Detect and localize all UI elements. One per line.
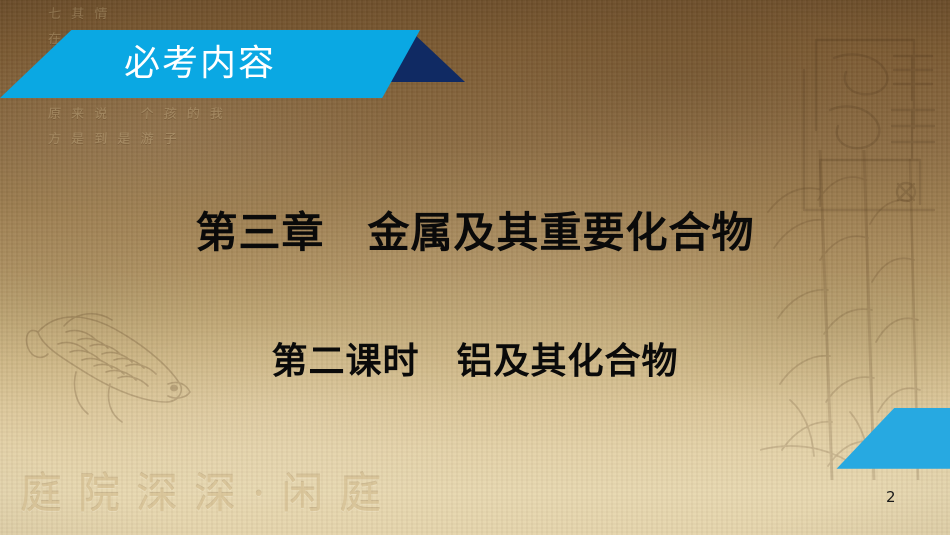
ribbon-banner-shape: 必考内容 <box>0 30 420 98</box>
page-number: 2 <box>886 490 896 505</box>
handwriting-line: 方 是 到 是 游 子 <box>47 127 259 152</box>
corner-ribbon-shape <box>795 408 950 506</box>
seal-script-caption: 庭院深深·闲庭 <box>20 460 397 521</box>
ribbon-label: 必考内容 <box>124 46 276 82</box>
lesson-title: 第二课时 铝及其化合物 <box>0 340 950 383</box>
seal-caption-text: 庭院深深·闲庭 <box>20 460 397 521</box>
chapter-title: 第三章 金属及其重要化合物 <box>0 208 950 258</box>
handwriting-line: 七 其 情 <box>47 2 259 27</box>
presentation-slide: 七 其 情 在 那 里 也 许 那 弹 琵 琶 的 女 子 也 原 来 说 个 … <box>0 0 950 535</box>
seal-script-artwork-icon <box>794 10 944 240</box>
handwriting-line: 原 来 说 个 孩 的 我 <box>47 102 259 127</box>
header-ribbon: 必考内容 <box>0 30 460 100</box>
